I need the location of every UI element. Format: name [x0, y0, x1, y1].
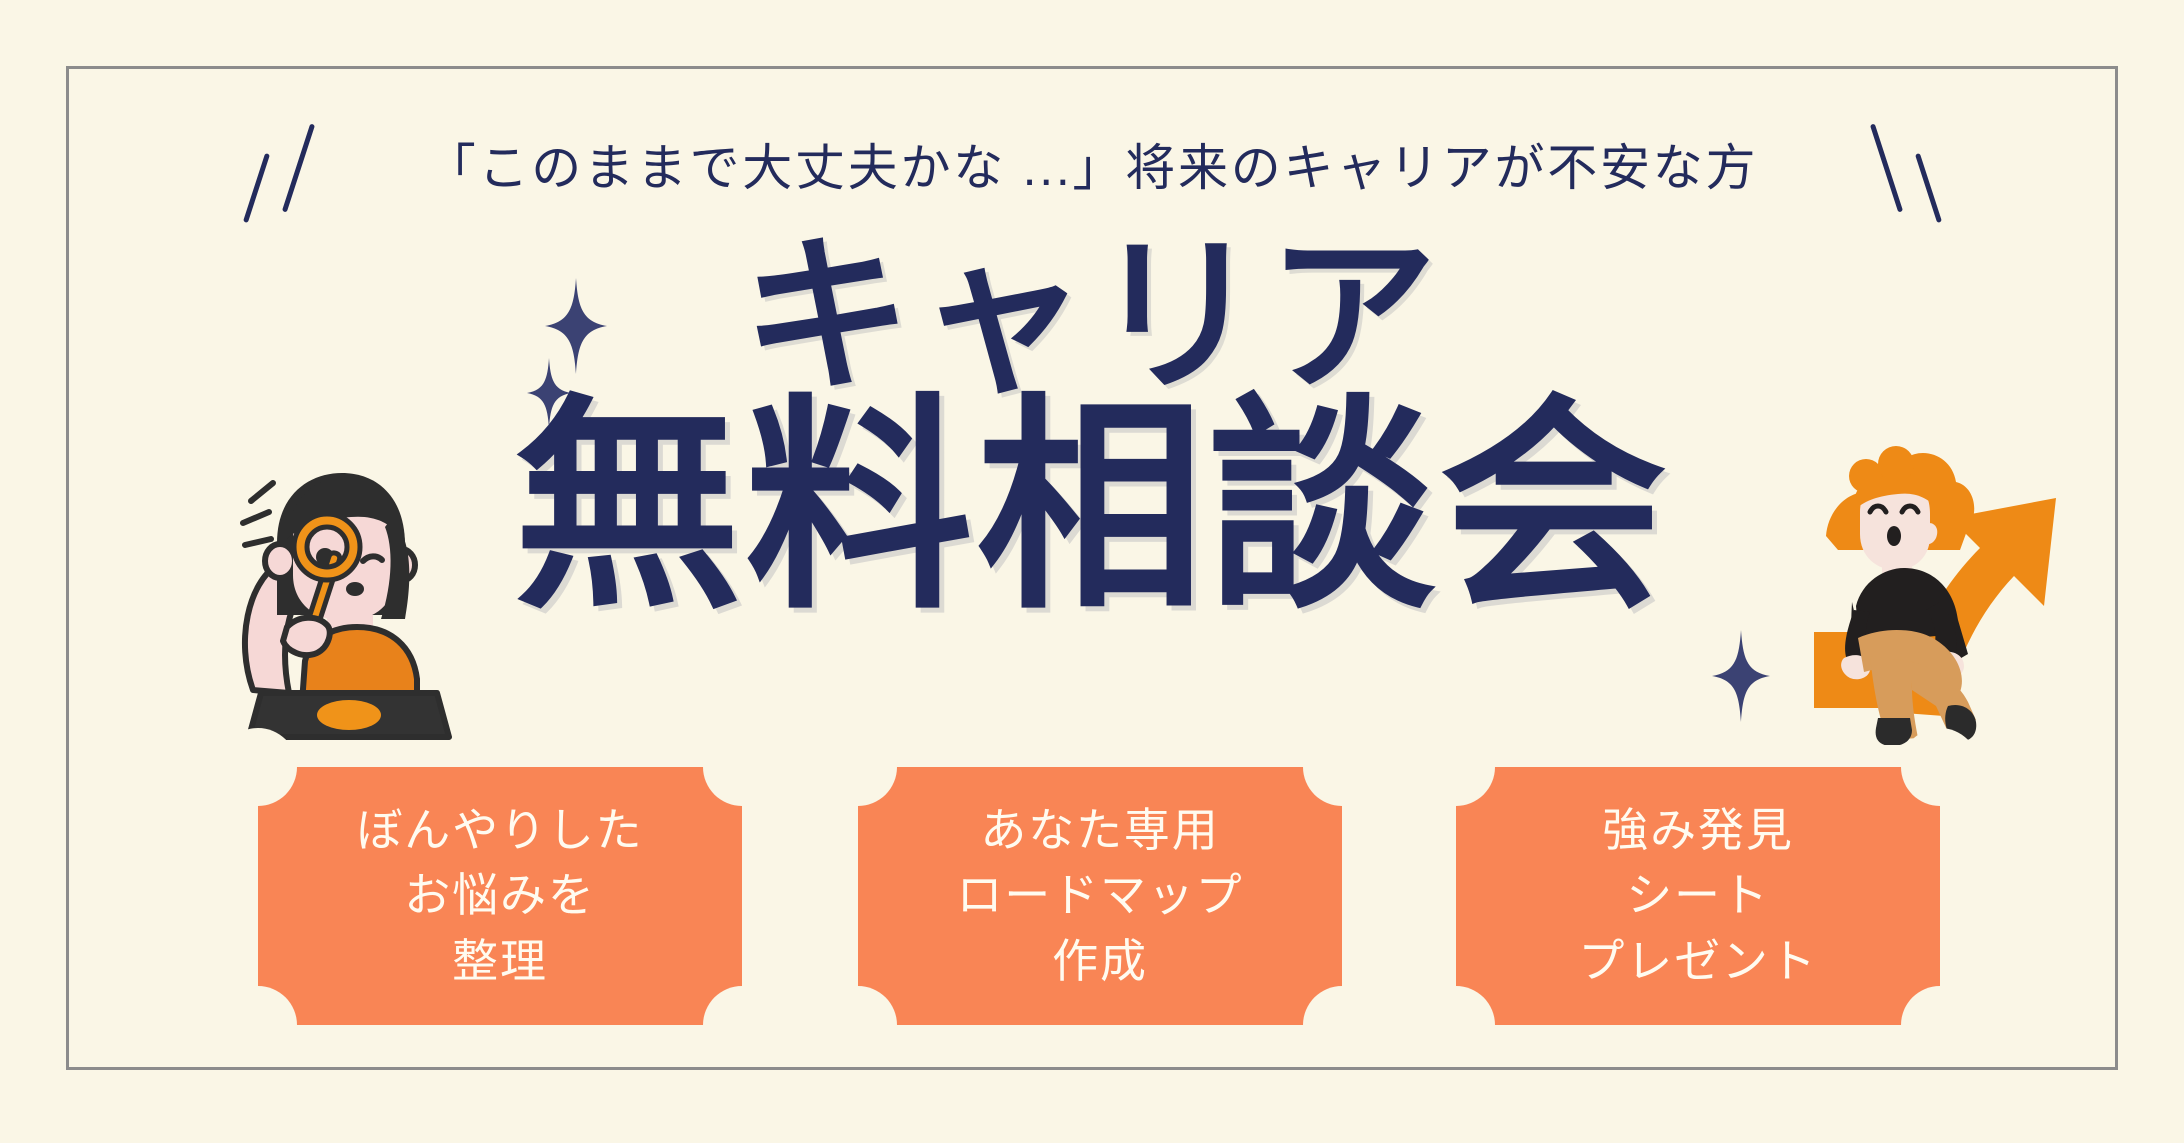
- ticket-notch-bottom-right: [1303, 986, 1381, 1064]
- person-sitting-on-growth-arrow-illustration: [1808, 440, 2083, 750]
- ticket-notch-bottom-left: [1417, 986, 1495, 1064]
- ticket-notch-top-left: [819, 728, 897, 806]
- ticket-notch-bottom-left: [819, 986, 897, 1064]
- kicker-text: 「このままで大丈夫かな ...」将来のキャリアが不安な方: [0, 128, 2184, 200]
- ticket-notch-top-right: [1901, 728, 1979, 806]
- ticket-notch-top-right: [1303, 728, 1381, 806]
- ticket-notch-bottom-left: [219, 986, 297, 1064]
- sparkle-four-point-right-icon: [1712, 630, 1770, 722]
- benefit-card-strength-sheet[interactable]: 強み発見 シート プレゼント: [1456, 767, 1940, 1025]
- ticket-notch-top-left: [219, 728, 297, 806]
- ticket-notch-top-left: [1417, 728, 1495, 806]
- benefit-card-personal-roadmap[interactable]: あなた専用 ロードマップ 作成: [858, 767, 1342, 1025]
- ticket-notch-bottom-right: [1901, 986, 1979, 1064]
- benefit-card-label: ぼんやりした お悩みを 整理: [356, 798, 643, 994]
- ticket-notch-top-right: [703, 728, 781, 806]
- headline-line-1: キャリア: [0, 232, 2184, 402]
- benefit-card-list: ぼんやりした お悩みを 整理 あなた専用 ロードマップ 作成 強み発見 シート …: [0, 767, 2184, 1029]
- sparkle-four-point-small-icon: [527, 358, 571, 428]
- ticket-notch-bottom-right: [703, 986, 781, 1064]
- person-with-magnifier-at-laptop-illustration: [205, 465, 475, 750]
- benefit-card-organize-worries[interactable]: ぼんやりした お悩みを 整理: [258, 767, 742, 1025]
- benefit-card-label: あなた専用 ロードマップ 作成: [956, 798, 1243, 994]
- benefit-card-label: 強み発見 シート プレゼント: [1578, 798, 1817, 994]
- banner-stage: 「このままで大丈夫かな ...」将来のキャリアが不安な方 キャリア 無料相談会: [0, 0, 2184, 1143]
